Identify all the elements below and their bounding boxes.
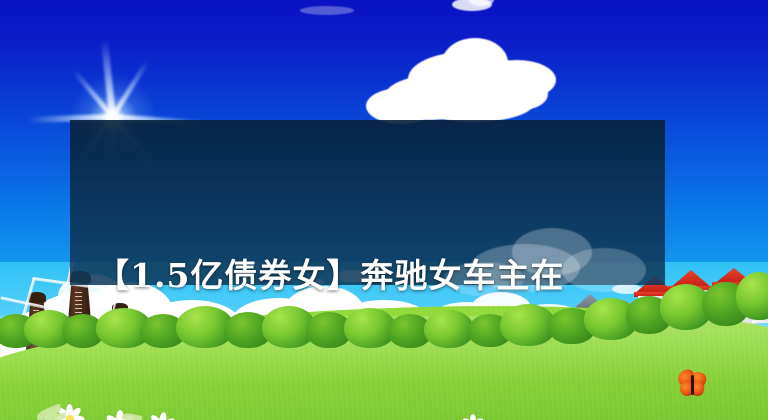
headline-text: 【1.5亿债券女】奔驰女车主在 引擎盖上"哭诉"后， xyxy=(70,120,665,285)
image-canvas: 【1.5亿债券女】奔驰女车主在 引擎盖上"哭诉"后， xyxy=(0,0,768,420)
headline-line-2: 引擎盖上"哭诉"后， xyxy=(96,413,665,420)
butterfly-icon xyxy=(676,370,710,400)
tree xyxy=(736,272,768,320)
headline-line-1: 【1.5亿债券女】奔驰女车主在 xyxy=(96,248,665,303)
